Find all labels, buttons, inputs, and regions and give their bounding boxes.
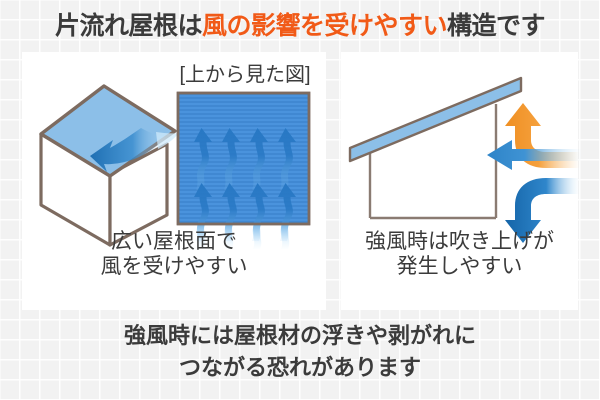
bottom-summary-text: 強風時には屋根材の浮きや剥がれに つながる恐れがあります (0, 320, 600, 384)
caption-left: 広い屋根面で 風を受けやすい (22, 230, 326, 280)
caption-right: 強風時は吹き上げが 発生しやすい (341, 230, 578, 280)
title-highlight: 風の影響を受けやすい (202, 12, 447, 40)
title-suffix: 構造です (447, 12, 545, 40)
topview-label: [上から見た図] (170, 58, 320, 87)
caption-right-line2: 発生しやすい (341, 255, 578, 280)
caption-left-line1: 広い屋根面で (22, 230, 326, 255)
title-prefix: 片流れ屋根は (55, 12, 202, 40)
bottom-text-line2: つながる恐れがあります (0, 352, 600, 384)
infographic-stage: 片流れ屋根は風の影響を受けやすい構造です (0, 0, 600, 400)
caption-left-line2: 風を受けやすい (22, 255, 326, 280)
page-title: 片流れ屋根は風の影響を受けやすい構造です (0, 6, 600, 42)
caption-right-line1: 強風時は吹き上げが (341, 230, 578, 255)
bottom-text-line1: 強風時には屋根材の浮きや剥がれに (0, 320, 600, 352)
